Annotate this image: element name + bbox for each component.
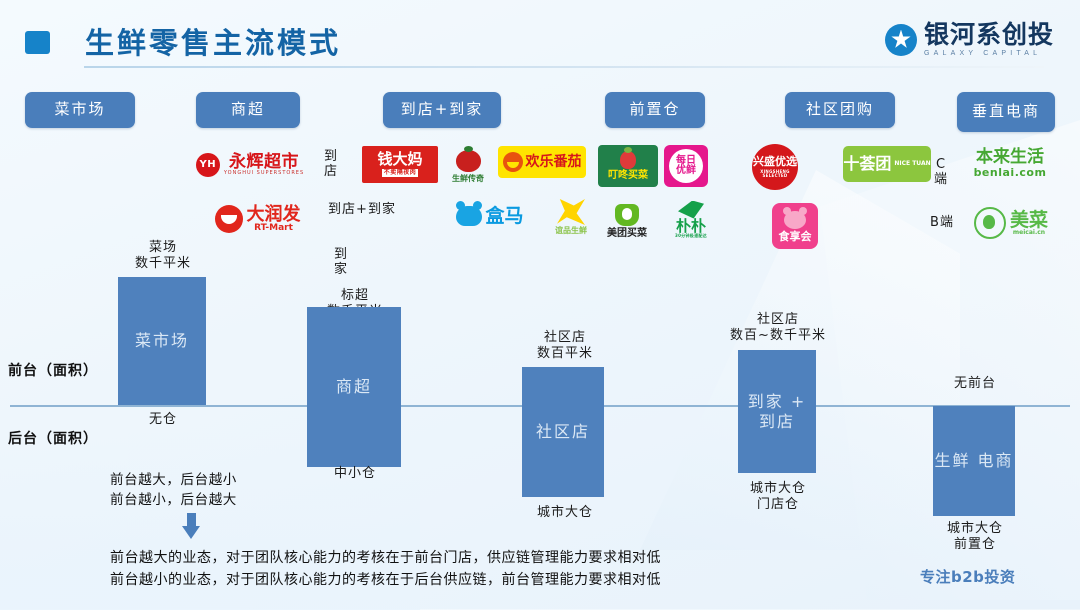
brand-name-benlai: 本来生活 — [976, 149, 1044, 166]
logo-text-en: GALAXY CAPITAL — [924, 50, 1054, 57]
title-bullet-icon — [25, 31, 50, 54]
star-icon — [885, 24, 917, 56]
brand-name-rtmart: 大润发 — [247, 206, 301, 224]
connector-label-daodian-daojia: 到店+到家 — [318, 203, 406, 218]
bar-bottom-label-shangchao: 中小仓 — [280, 466, 430, 482]
brand-logo-qiandama: 钱大妈 不卖隔夜肉 — [362, 146, 438, 183]
brand-name-shixianghui: 食享会 — [779, 231, 812, 242]
conclusion-note: 前台越大的业态，对于团队核心能力的考核在于前台门店，供应链管理能力要求相对低 前… — [110, 548, 661, 591]
brand-name-qiandama: 钱大妈 — [377, 152, 422, 167]
category-pill-shequtuangou[interactable]: 社区团购 — [785, 92, 895, 128]
brand-name-pupu: 朴朴 — [676, 219, 706, 234]
brand-name-yonghui: 永辉超市 — [224, 154, 304, 171]
meituan-kangaroo-icon — [615, 204, 639, 226]
axis-label-front: 前台（面积） — [8, 360, 98, 380]
bar-top-label-daojia-daodian: 社区店 数百~数千平米 — [700, 312, 856, 345]
header-divider — [84, 66, 1044, 68]
radish-icon — [620, 151, 636, 169]
brand-logo-meituanmaicai: 美团买菜 — [592, 200, 662, 242]
bar-bottom-label-shequdian: 城市大仓 — [490, 505, 640, 521]
brand-logo-yonghui: YH 永辉超市 YONGHUI SUPERSTORES — [190, 148, 310, 182]
logo-text-cn: 银河系创投 — [924, 22, 1054, 47]
connector-label-daojia: 到 家 — [330, 248, 352, 278]
brand-sub-xingsheng: XINGSHENG SELECTED — [752, 170, 798, 179]
brand-sub-pupu: 30分钟极速配达 — [675, 234, 707, 238]
bar-top-label-shequdian: 社区店 数百平米 — [490, 330, 640, 363]
bird-icon — [678, 201, 704, 219]
bar-bottom-label-shengxian-dianshang: 城市大仓 前置仓 — [900, 521, 1050, 554]
yipin-mark-icon — [557, 199, 585, 225]
brand-sub-qiandama: 不卖隔夜肉 — [382, 169, 419, 177]
yh-mark-icon: YH — [196, 153, 220, 177]
meicai-mark-icon — [974, 207, 1006, 239]
brand-logo-shihuituan: 十荟团 NICE TUAN — [843, 146, 931, 182]
brand-logo: 银河系创投 GALAXY CAPITAL — [885, 22, 1054, 57]
brand-logo-shengxianchuanqi: 生鲜传奇 — [445, 145, 491, 187]
brand-logo-missfresh: 每日 优鲜 — [664, 145, 708, 187]
brand-sub-benlai: benlai.com — [974, 167, 1047, 178]
brand-name-xingsheng: 兴盛优选 — [753, 156, 797, 168]
brand-name-hema: 盒马 — [485, 207, 523, 226]
connector-label-c-side: C 端 — [930, 158, 952, 188]
rule-note: 前台越大，后台越小 前台越小，后台越大 — [110, 470, 237, 511]
bar-daojia-daodian[interactable]: 到家 + 到店 — [738, 350, 816, 473]
brand-logo-benlai: 本来生活 benlai.com — [960, 143, 1060, 183]
brand-sub-meicai: meicai.cn — [1010, 230, 1048, 236]
bar-bottom-label-daojia-daodian: 城市大仓 门店仓 — [700, 481, 856, 514]
missfresh-bubble-icon: 每日 优鲜 — [669, 149, 703, 183]
category-pill-shangchao[interactable]: 商超 — [196, 92, 300, 128]
pig-icon — [784, 211, 806, 229]
category-pill-qianzhicang[interactable]: 前置仓 — [605, 92, 705, 128]
brand-name-huanlefanqie: 欢乐番茄 — [526, 155, 582, 169]
bar-top-label-shengxian-dianshang: 无前台 — [900, 376, 1050, 392]
bar-shengxian-dianshang[interactable]: 生鲜 电商 — [933, 406, 1015, 516]
brand-sub-rtmart: RT-Mart — [247, 224, 301, 233]
brand-logo-xingsheng: 兴盛优选 XINGSHENG SELECTED — [752, 144, 798, 190]
brand-sub-shihuituan: NICE TUAN — [894, 161, 930, 168]
brand-logo-shixianghui: 食享会 — [772, 203, 818, 249]
brand-name-meicai: 美菜 — [1010, 211, 1048, 230]
tomato-icon — [456, 150, 481, 172]
category-pill-daodian-daojia[interactable]: 到店+到家 — [383, 92, 501, 128]
bar-shangchao[interactable]: 商超 — [307, 307, 401, 467]
down-arrow-icon — [182, 513, 200, 539]
bar-shequdian[interactable]: 社区店 — [522, 367, 604, 497]
category-pill-chuizhidianshang[interactable]: 垂直电商 — [957, 92, 1055, 132]
category-pill-caishichang[interactable]: 菜市场 — [25, 92, 135, 128]
brand-name-meituanmaicai: 美团买菜 — [607, 229, 647, 239]
slide-header: 生鲜零售主流模式 银河系创投 GALAXY CAPITAL — [0, 0, 1080, 78]
bar-top-label-caishichang: 菜场 数千平米 — [88, 240, 238, 273]
connector-label-daodian: 到 店 — [320, 150, 342, 180]
watermark: 专注b2b投资 — [920, 566, 1015, 587]
brand-name-shihuituan: 十荟团 — [843, 156, 891, 172]
rtmart-mark-icon — [215, 205, 243, 233]
connector-label-b-side: B端 — [925, 216, 959, 231]
brand-sub-yonghui: YONGHUI SUPERSTORES — [224, 171, 304, 176]
brand-logo-pupu: 朴朴 30分钟极速配达 — [660, 196, 722, 242]
page-title: 生鲜零售主流模式 — [85, 20, 341, 62]
axis-label-back: 后台（面积） — [8, 428, 98, 448]
missfresh-line2: 优鲜 — [676, 166, 696, 177]
brand-logo-hema: 盒马 — [445, 198, 535, 234]
brand-logo-meicai: 美菜 meicai.cn — [962, 203, 1060, 243]
brand-logo-huanlefanqie: 欢乐番茄 — [498, 146, 586, 178]
brand-name-yipin: 谊品生鲜 — [555, 227, 587, 235]
hippo-icon — [456, 206, 482, 226]
smiley-tomato-icon — [503, 152, 523, 172]
bar-caishichang[interactable]: 菜市场 — [118, 277, 206, 405]
brand-logo-dingdong: 叮咚买菜 — [598, 145, 658, 187]
bar-bottom-label-caishichang: 无仓 — [88, 412, 238, 428]
brand-logo-rtmart: 大润发 RT-Mart — [195, 200, 320, 238]
brand-name-dingdong: 叮咚买菜 — [608, 171, 648, 181]
brand-name-shengxianchuanqi: 生鲜传奇 — [452, 175, 484, 183]
